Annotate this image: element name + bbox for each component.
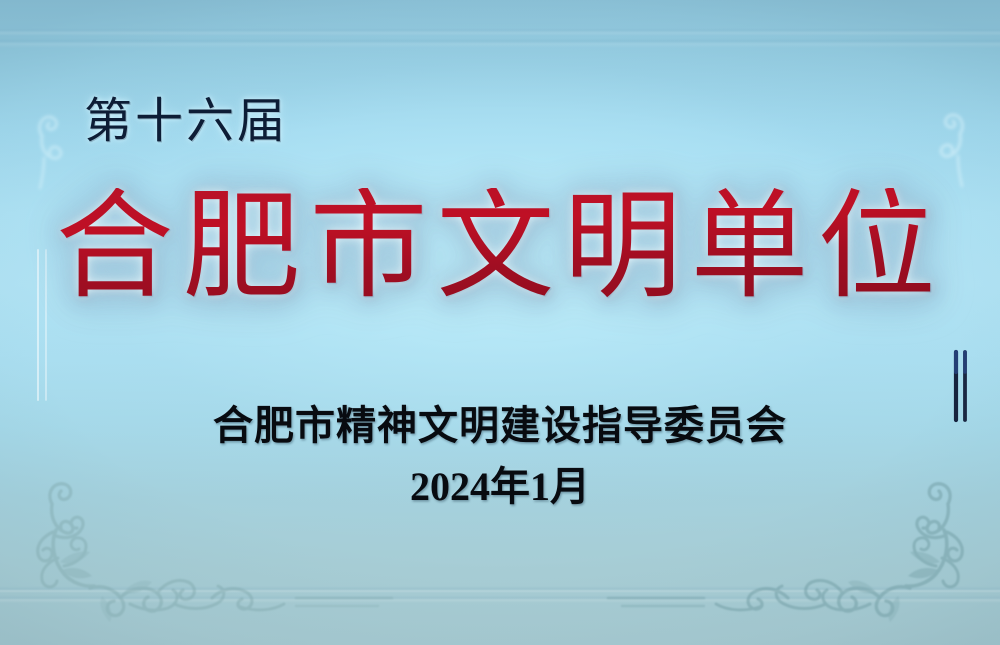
edition-label: 第十六届 (84, 98, 288, 146)
issuing-organization: 合肥市精神文明建设指导委员会 (0, 406, 1000, 446)
issue-date: 2024年1月 (0, 467, 1000, 507)
certificate-slide: 第十六届 合肥市文明单位 合肥市精神文明建设指导委员会 2024年1月 (0, 0, 1000, 645)
background-bottom-bands (0, 586, 1000, 608)
page-title: 合肥市文明单位 (0, 188, 1000, 308)
